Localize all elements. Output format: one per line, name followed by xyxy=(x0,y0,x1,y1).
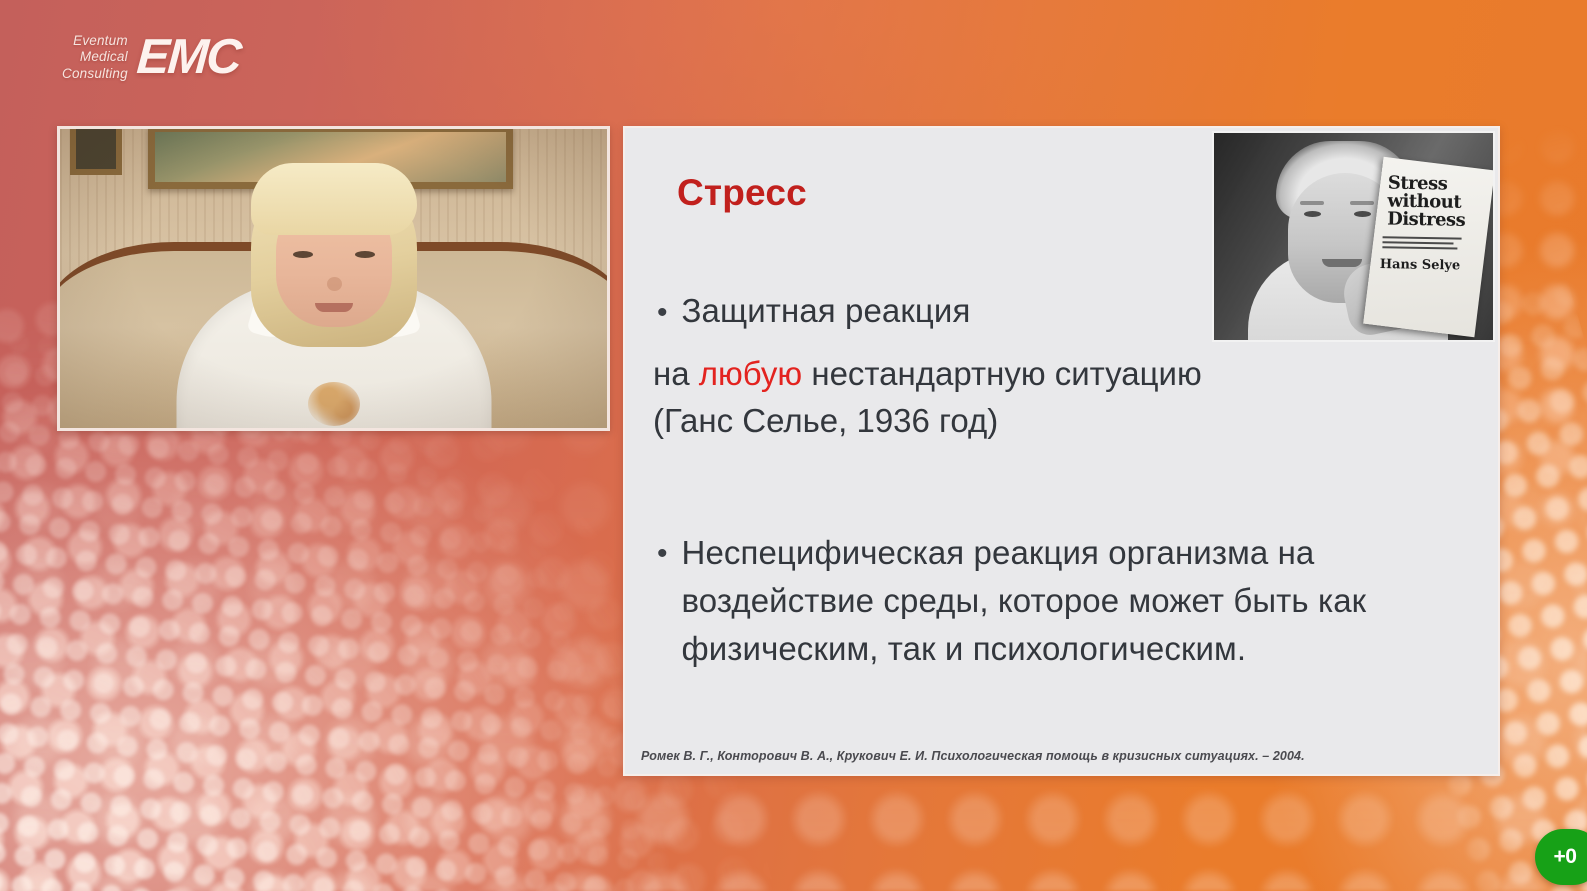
selye-mouth xyxy=(1322,259,1362,267)
bullet-marker: • xyxy=(641,529,668,569)
logo-line-3: Consulting xyxy=(62,66,128,82)
slide-title: Стресс xyxy=(677,172,807,214)
selye-brow-right xyxy=(1350,201,1374,205)
paragraph-before: на xyxy=(653,355,699,392)
definition-paragraph: на любую нестандартную ситуацию (Ганс Се… xyxy=(641,351,1480,445)
book-author: Hans Selye xyxy=(1380,257,1474,274)
screen-root: Eventum Medical Consulting EMC xyxy=(0,0,1587,891)
selye-brow-left xyxy=(1300,201,1324,205)
add-reaction-button[interactable]: +0 xyxy=(1535,829,1587,885)
paragraph-after: нестандартную ситуацию xyxy=(802,355,1202,392)
video-scene xyxy=(60,129,607,428)
logo-initials: EMC xyxy=(135,35,241,80)
emc-logo: Eventum Medical Consulting EMC xyxy=(62,33,240,82)
logo-line-1: Eventum xyxy=(73,33,128,49)
bullet-marker: • xyxy=(641,288,668,328)
selye-eye-right xyxy=(1354,211,1371,217)
bullet-text-1: Защитная реакция xyxy=(682,288,971,335)
bullet-item-2: • Неспецифическая реакция организма на в… xyxy=(641,529,1480,674)
video-vignette xyxy=(60,129,607,428)
paragraph-highlight: любую xyxy=(699,355,802,392)
logo-line-2: Medical xyxy=(80,49,128,65)
presenter-video-tile[interactable] xyxy=(57,126,610,431)
bullet-item-1: • Защитная реакция xyxy=(641,288,1480,335)
bullet-text-2: Неспецифическая реакция организма на воз… xyxy=(682,529,1480,674)
book-title: Stress without Distress xyxy=(1387,175,1482,231)
slide-body: • Защитная реакция на любую нестандартну… xyxy=(641,288,1480,673)
book-cover-lines xyxy=(1382,236,1476,250)
presentation-slide[interactable]: Стресс Stress without Distress Hans Sely… xyxy=(623,126,1500,776)
slide-citation: Ромек В. Г., Конторович В. А., Крукович … xyxy=(641,749,1484,763)
paragraph-attribution: (Ганс Селье, 1936 год) xyxy=(653,402,998,439)
logo-wordmark: Eventum Medical Consulting xyxy=(62,33,128,82)
selye-eye-left xyxy=(1304,211,1321,217)
